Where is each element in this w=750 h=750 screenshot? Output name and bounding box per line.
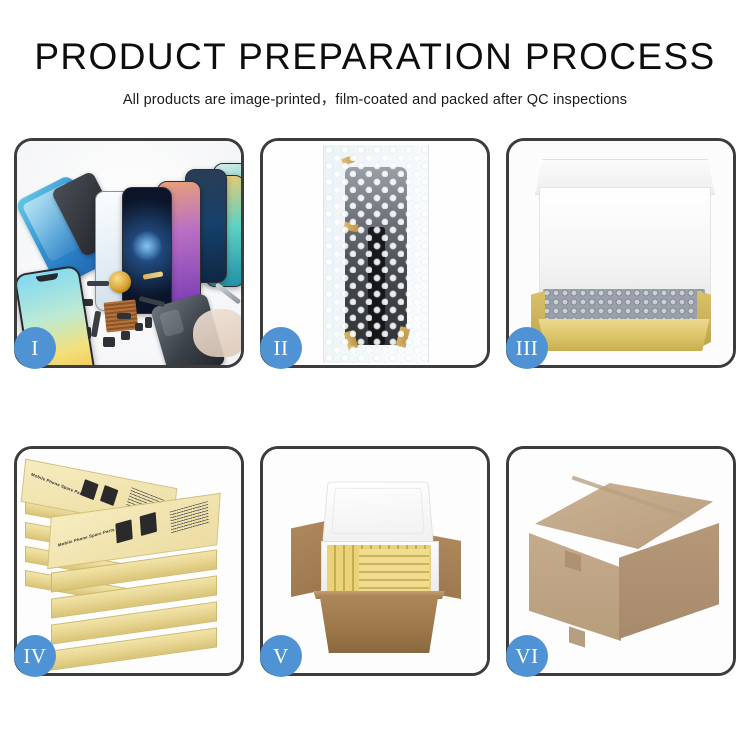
step-badge-2: II <box>260 327 302 369</box>
box-label-text-front: Mobile Phone Spare Parts <box>58 527 115 548</box>
step-panel-4: Mobile Phone Spare Parts Mobile Phone Sp… <box>14 446 244 676</box>
step-panel-3: III <box>506 138 736 368</box>
step-image-carton-packing <box>263 449 487 673</box>
step-image-bubble-wrap <box>263 141 487 365</box>
step-panel-5: V <box>260 446 490 676</box>
carton-left-face <box>529 533 621 641</box>
connector-6 <box>117 313 131 319</box>
carton-front-panel <box>313 595 445 653</box>
flex-cable-3 <box>91 311 101 338</box>
foam-liner <box>539 187 711 305</box>
step-badge-3: III <box>506 327 548 369</box>
step-image-parts-inspection <box>17 141 241 365</box>
connector-7 <box>145 317 152 328</box>
step-image-inner-box <box>509 141 733 365</box>
connector-4 <box>121 331 130 340</box>
step-badge-4: IV <box>14 635 56 677</box>
bubble-texture <box>324 145 428 363</box>
box-label-phone-img-4 <box>140 512 157 536</box>
step-badge-1: I <box>14 327 56 369</box>
box-label-phone-img-2 <box>100 485 118 506</box>
styrofoam-lid <box>322 482 433 544</box>
step-panel-1: I <box>14 138 244 368</box>
box-label-spec-lines-front <box>170 501 210 533</box>
flex-cable-1 <box>87 281 109 286</box>
yellow-boxes-row-2 <box>359 549 429 591</box>
step-panel-2: II <box>260 138 490 368</box>
connector-5 <box>135 323 143 331</box>
step-badge-5: V <box>260 635 302 677</box>
page-title: PRODUCT PREPARATION PROCESS <box>0 38 750 77</box>
hand <box>193 309 241 357</box>
step-image-stacked-boxes: Mobile Phone Spare Parts Mobile Phone Sp… <box>17 449 241 673</box>
phone-screen-blue <box>122 187 172 314</box>
step-panel-6: VI <box>506 446 736 676</box>
page-subtitle: All products are image-printed，film-coat… <box>0 88 750 109</box>
connector-3 <box>103 337 115 347</box>
carton-tape-lower <box>569 626 585 647</box>
bubble-wrap-bag <box>323 145 429 363</box>
box-front-panel <box>533 319 715 351</box>
box-label-text-back: Mobile Phone Spare Parts <box>31 472 87 498</box>
header: PRODUCT PREPARATION PROCESS All products… <box>0 0 750 109</box>
coil-component <box>109 271 131 293</box>
step-badge-6: VI <box>506 635 548 677</box>
step-image-sealed-carton <box>509 449 733 673</box>
box-label-phone-img-3 <box>115 519 132 543</box>
process-steps-grid: I II III <box>14 138 736 676</box>
